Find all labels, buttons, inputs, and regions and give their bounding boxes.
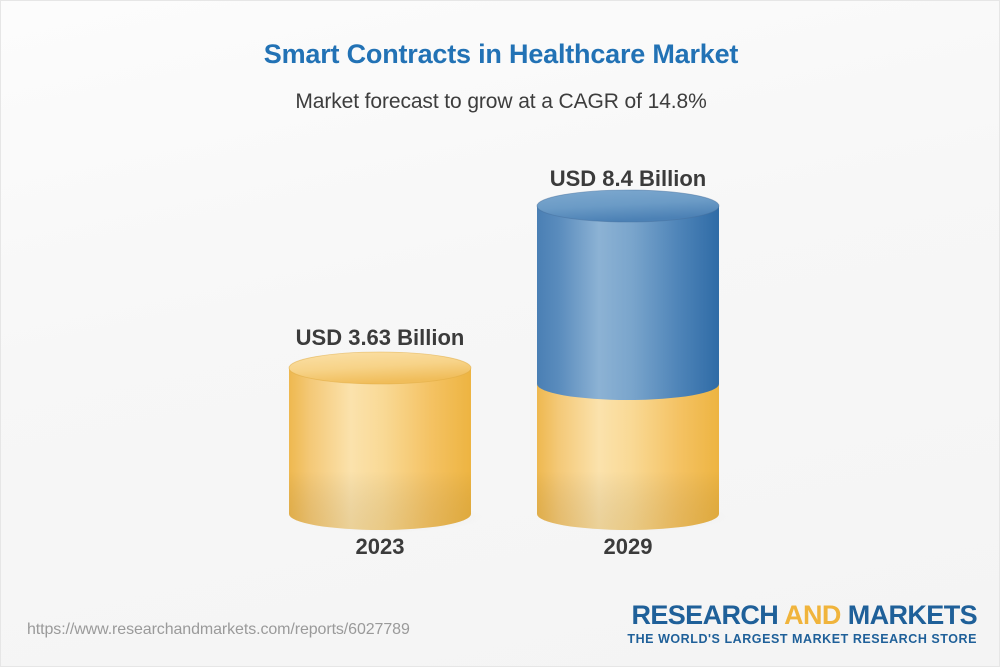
logo-word-research: RESEARCH [631, 600, 784, 630]
chart-canvas: Smart Contracts in Healthcare Market Mar… [0, 0, 1000, 667]
bar-2029-segment-yellow-shade [537, 471, 719, 530]
bar-2023[interactable] [289, 352, 482, 532]
bar-2029-segment-blue [537, 206, 719, 400]
category-label-2023: 2023 [280, 534, 480, 560]
logo-tagline: THE WORLD'S LARGEST MARKET RESEARCH STOR… [627, 632, 977, 646]
bar-2029[interactable] [537, 190, 730, 532]
bar-2023-body-shade [289, 471, 471, 530]
report-url[interactable]: https://www.researchandmarkets.com/repor… [27, 621, 410, 639]
cylinder-bar-chart [1, 1, 1000, 601]
value-label-2023: USD 3.63 Billion [230, 325, 530, 351]
logo-word-markets: MARKETS [841, 600, 977, 630]
value-label-2029: USD 8.4 Billion [478, 166, 778, 192]
logo-word-and: AND [784, 600, 841, 630]
research-and-markets-logo[interactable]: RESEARCH AND MARKETS THE WORLD'S LARGEST… [627, 601, 977, 646]
category-label-2029: 2029 [528, 534, 728, 560]
logo-wordmark: RESEARCH AND MARKETS [627, 601, 977, 629]
